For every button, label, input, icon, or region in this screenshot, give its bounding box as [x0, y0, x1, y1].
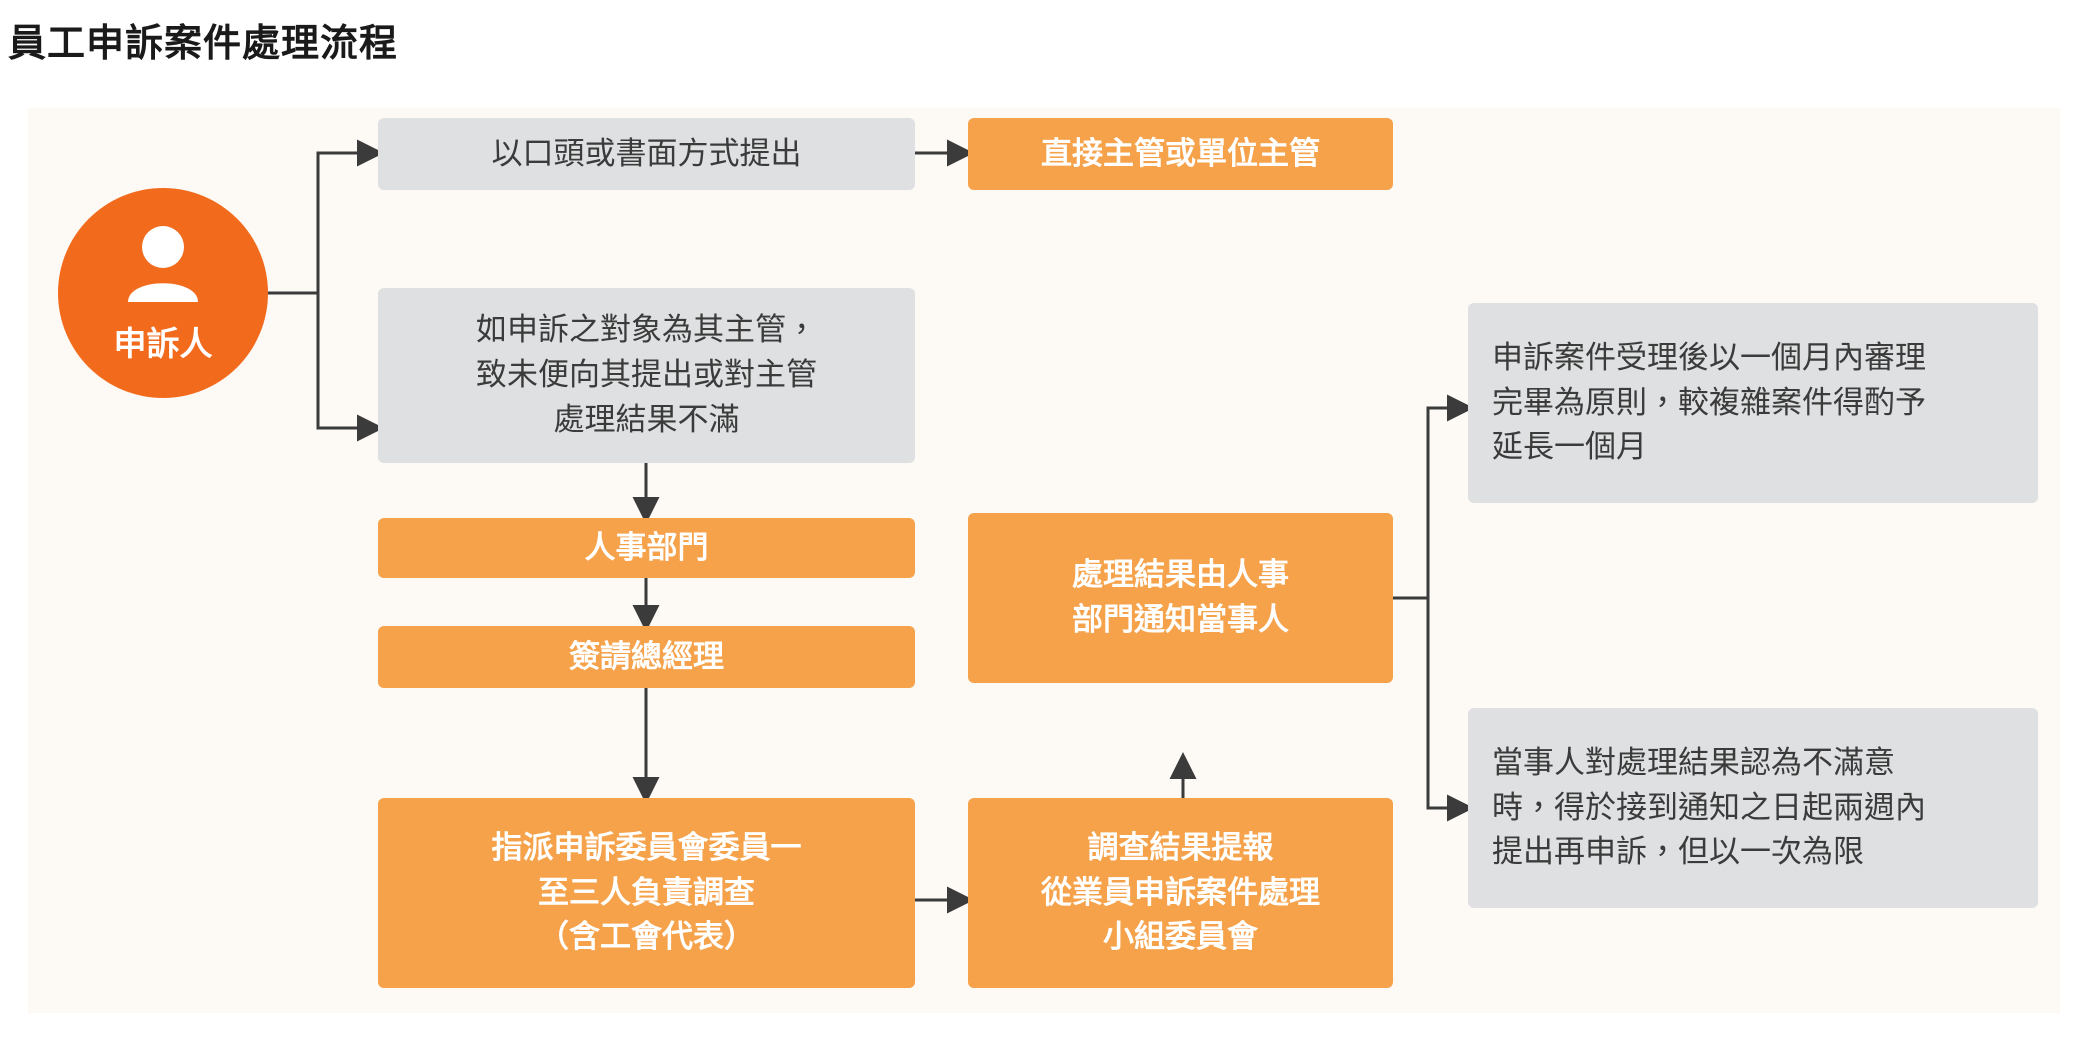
- node-line: 部門通知當事人: [978, 598, 1383, 643]
- actor-label: 申訴人: [114, 317, 213, 365]
- node-line: 從業員申訴案件處理: [978, 871, 1383, 916]
- node-line: 完畢為原則，較複雜案件得酌予: [1492, 381, 2014, 426]
- node-line: 延長一個月: [1492, 425, 2014, 470]
- node-notify-result[interactable]: 處理結果由人事 部門通知當事人: [968, 513, 1393, 683]
- node-review-timeframe[interactable]: 申訴案件受理後以一個月內審理 完畢為原則，較複雜案件得酌予 延長一個月: [1468, 303, 2038, 503]
- node-line: 以口頭或書面方式提出: [388, 132, 905, 177]
- node-direct-supervisor[interactable]: 直接主管或單位主管: [968, 118, 1393, 190]
- page-title: 員工申訴案件處理流程: [8, 12, 398, 67]
- node-line: 至三人負責調查: [388, 871, 905, 916]
- node-line: 時，得於接到通知之日起兩週內: [1492, 786, 2014, 831]
- node-assign-committee[interactable]: 指派申訴委員會委員一 至三人負責調查 （含工會代表）: [378, 798, 915, 988]
- node-line: 小組委員會: [978, 915, 1383, 960]
- node-line: （含工會代表）: [388, 915, 905, 960]
- node-if-target-is-supervisor[interactable]: 如申訴之對象為其主管， 致未便向其提出或對主管 處理結果不滿: [378, 288, 915, 463]
- node-report-investigation[interactable]: 調查結果提報 從業員申訴案件處理 小組委員會: [968, 798, 1393, 988]
- node-line: 致未便向其提出或對主管: [388, 353, 905, 398]
- node-line: 人事部門: [388, 526, 905, 571]
- node-line: 當事人對處理結果認為不滿意: [1492, 741, 2014, 786]
- node-line: 指派申訴委員會委員一: [388, 826, 905, 871]
- node-line: 如申訴之對象為其主管，: [388, 308, 905, 353]
- node-line: 直接主管或單位主管: [978, 132, 1383, 177]
- node-submit-to-gm[interactable]: 簽請總經理: [378, 626, 915, 688]
- node-line: 調查結果提報: [978, 826, 1383, 871]
- flowchart-canvas: 申訴人 以口頭或書面方式提出 直接主管或單位主管 如申訴之對象為其主管， 致未便…: [28, 108, 2060, 1013]
- node-line: 處理結果不滿: [388, 398, 905, 443]
- node-line: 申訴案件受理後以一個月內審理: [1492, 336, 2014, 381]
- node-line: 提出再申訴，但以一次為限: [1492, 830, 2014, 875]
- node-reappeal-rule[interactable]: 當事人對處理結果認為不滿意 時，得於接到通知之日起兩週內 提出再申訴，但以一次為…: [1468, 708, 2038, 908]
- node-submit-method[interactable]: 以口頭或書面方式提出: [378, 118, 915, 190]
- person-icon: [126, 226, 200, 307]
- node-hr-department[interactable]: 人事部門: [378, 518, 915, 578]
- actor-appellant: 申訴人: [58, 188, 268, 398]
- node-line: 處理結果由人事: [978, 553, 1383, 598]
- node-line: 簽請總經理: [388, 635, 905, 680]
